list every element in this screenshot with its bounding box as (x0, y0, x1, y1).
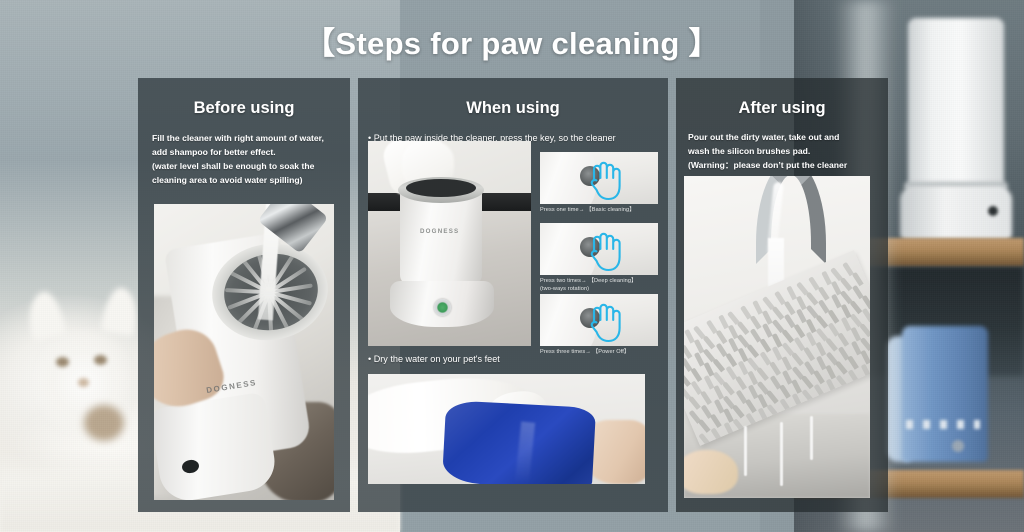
filling-cleaner-with-water-photo: DOGNESS (154, 204, 334, 500)
drying-paw-with-blue-towel-photo (368, 374, 645, 484)
mode-thumbnail-basic-cleaning (540, 152, 658, 204)
hand-press-icon (584, 302, 630, 344)
washing-silicon-brush-pad-photo (684, 176, 870, 498)
mode-caption-basic-cleaning: Press one time→ 【Basic cleaning】 (540, 206, 672, 214)
blue-appliance-vents (906, 420, 980, 429)
panel-when-using: When using • Put the paw inside the clea… (358, 78, 668, 512)
panel-before-description: Fill the cleaner with right amount of wa… (138, 132, 350, 188)
dry-paw-note: • Dry the water on your pet's feet (358, 352, 510, 367)
hand-bottom-left (684, 450, 738, 494)
panel-before-using: Before using Fill the cleaner with right… (138, 78, 350, 512)
paw-inside-cleaner-photo: DOGNESS (368, 141, 531, 346)
hand-press-icon (584, 231, 630, 273)
panel-after-title: After using (676, 99, 888, 118)
panel-before-title: Before using (138, 99, 350, 118)
panel-when-title: When using (358, 99, 668, 118)
water-drip (744, 426, 747, 476)
cleaner-opening (406, 179, 476, 197)
brand-label: DOGNESS (420, 228, 459, 235)
cat-chest-marking (84, 405, 124, 441)
cleaner-base (154, 392, 279, 500)
water-drip (810, 416, 813, 460)
cat-nose (78, 378, 89, 387)
white-appliance-button (988, 206, 998, 216)
blue-appliance-knob (952, 440, 964, 452)
cat-eye-right (94, 355, 107, 365)
cleaner-power-button (434, 299, 451, 316)
mode-thumbnail-power-off (540, 294, 658, 346)
cleaner-body (400, 189, 482, 285)
mode-caption-power-off: Press three times→ 【Power Off】 (540, 348, 672, 356)
water-drip (780, 422, 783, 486)
mode-caption-deep-cleaning: Press two times→ 【Deep cleaning】 (two-wa… (540, 277, 672, 293)
mode-thumbnail-deep-cleaning (540, 223, 658, 275)
panel-after-using: After using Pour out the dirty water, ta… (676, 78, 888, 512)
blue-appliance (902, 326, 988, 462)
cat-eye-left (56, 357, 69, 367)
hand-press-icon (584, 160, 630, 202)
page-title: 【Steps for paw cleaning 】 (0, 18, 1024, 63)
